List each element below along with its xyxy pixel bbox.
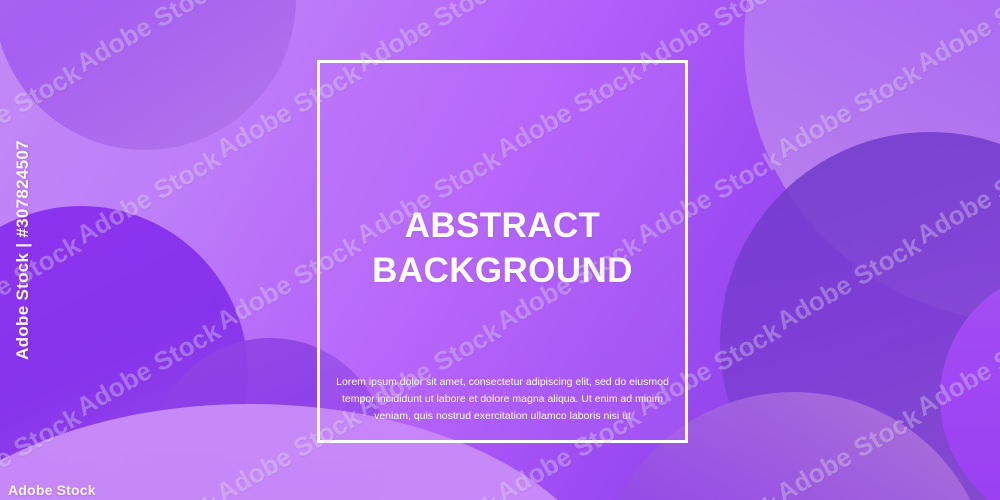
- abstract-background-artwork: ABSTRACT BACKGROUND Lorem ipsum dolor si…: [0, 0, 1000, 500]
- content-frame-inner: ABSTRACT BACKGROUND Lorem ipsum dolor si…: [320, 63, 685, 440]
- page-title: ABSTRACT BACKGROUND: [372, 204, 633, 294]
- content-frame: ABSTRACT BACKGROUND Lorem ipsum dolor si…: [317, 60, 688, 443]
- body-paragraph: Lorem ipsum dolor sit amet, consectetur …: [334, 374, 671, 425]
